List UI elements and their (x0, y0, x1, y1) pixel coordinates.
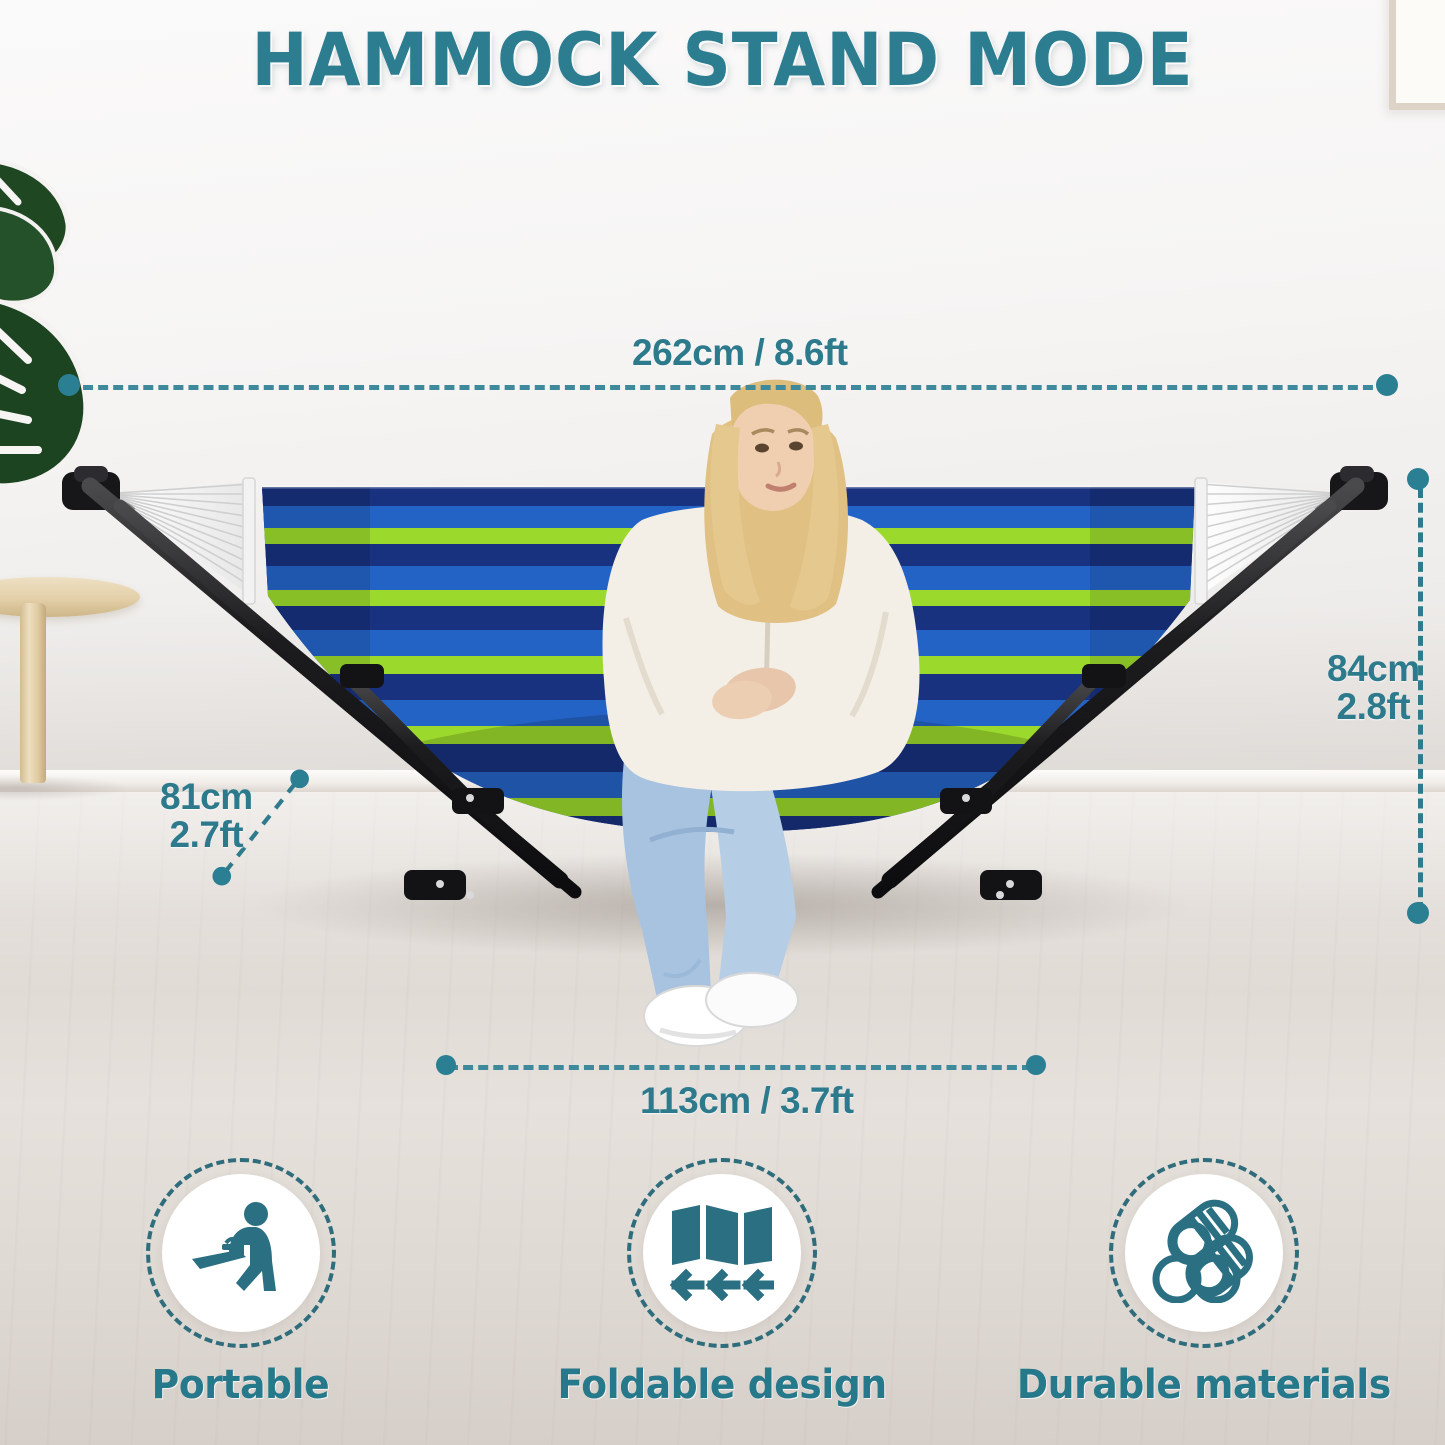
dimension-height-cm: 84cm (1327, 650, 1420, 688)
feature-label: Foldable design (558, 1362, 887, 1408)
person-carrying-case-icon (188, 1201, 294, 1306)
dimension-line-width (448, 1065, 1032, 1070)
feature-badge (146, 1158, 336, 1348)
dimension-dot (1026, 1055, 1046, 1075)
dimension-label-width: 113cm / 3.7ft (640, 1082, 854, 1120)
dimension-dot (58, 374, 80, 396)
dimension-dot (436, 1055, 456, 1075)
feature-item-foldable: Foldable design (512, 1158, 932, 1408)
feature-label: Portable (152, 1362, 330, 1408)
feature-list: Portable Foldable design (0, 1158, 1445, 1445)
dimension-line-length (68, 385, 1388, 390)
dimension-depth-ft: 2.7ft (160, 816, 253, 854)
rope-fan-left (104, 478, 256, 604)
feature-item-portable: Portable (31, 1158, 451, 1408)
feature-item-durable: Durable materials (994, 1158, 1414, 1408)
page-title: HAMMOCK STAND MODE (58, 18, 1387, 103)
dimension-height-ft: 2.8ft (1327, 688, 1420, 726)
dimension-label-height: 84cm 2.8ft (1327, 650, 1420, 725)
dimension-dot (1376, 374, 1398, 396)
rope-fan-right (1194, 478, 1348, 604)
feature-label: Durable materials (1017, 1362, 1391, 1408)
dimension-depth-cm: 81cm (160, 778, 253, 816)
stacked-logs-icon (1150, 1199, 1258, 1308)
dimension-dot (1407, 468, 1429, 490)
dimension-label-length: 262cm / 8.6ft (632, 334, 848, 372)
feature-badge (627, 1158, 817, 1348)
folding-panels-arrows-icon (670, 1201, 774, 1306)
dimension-label-depth: 81cm 2.7ft (160, 778, 253, 853)
feature-badge (1109, 1158, 1299, 1348)
dimension-dot (1407, 902, 1429, 924)
